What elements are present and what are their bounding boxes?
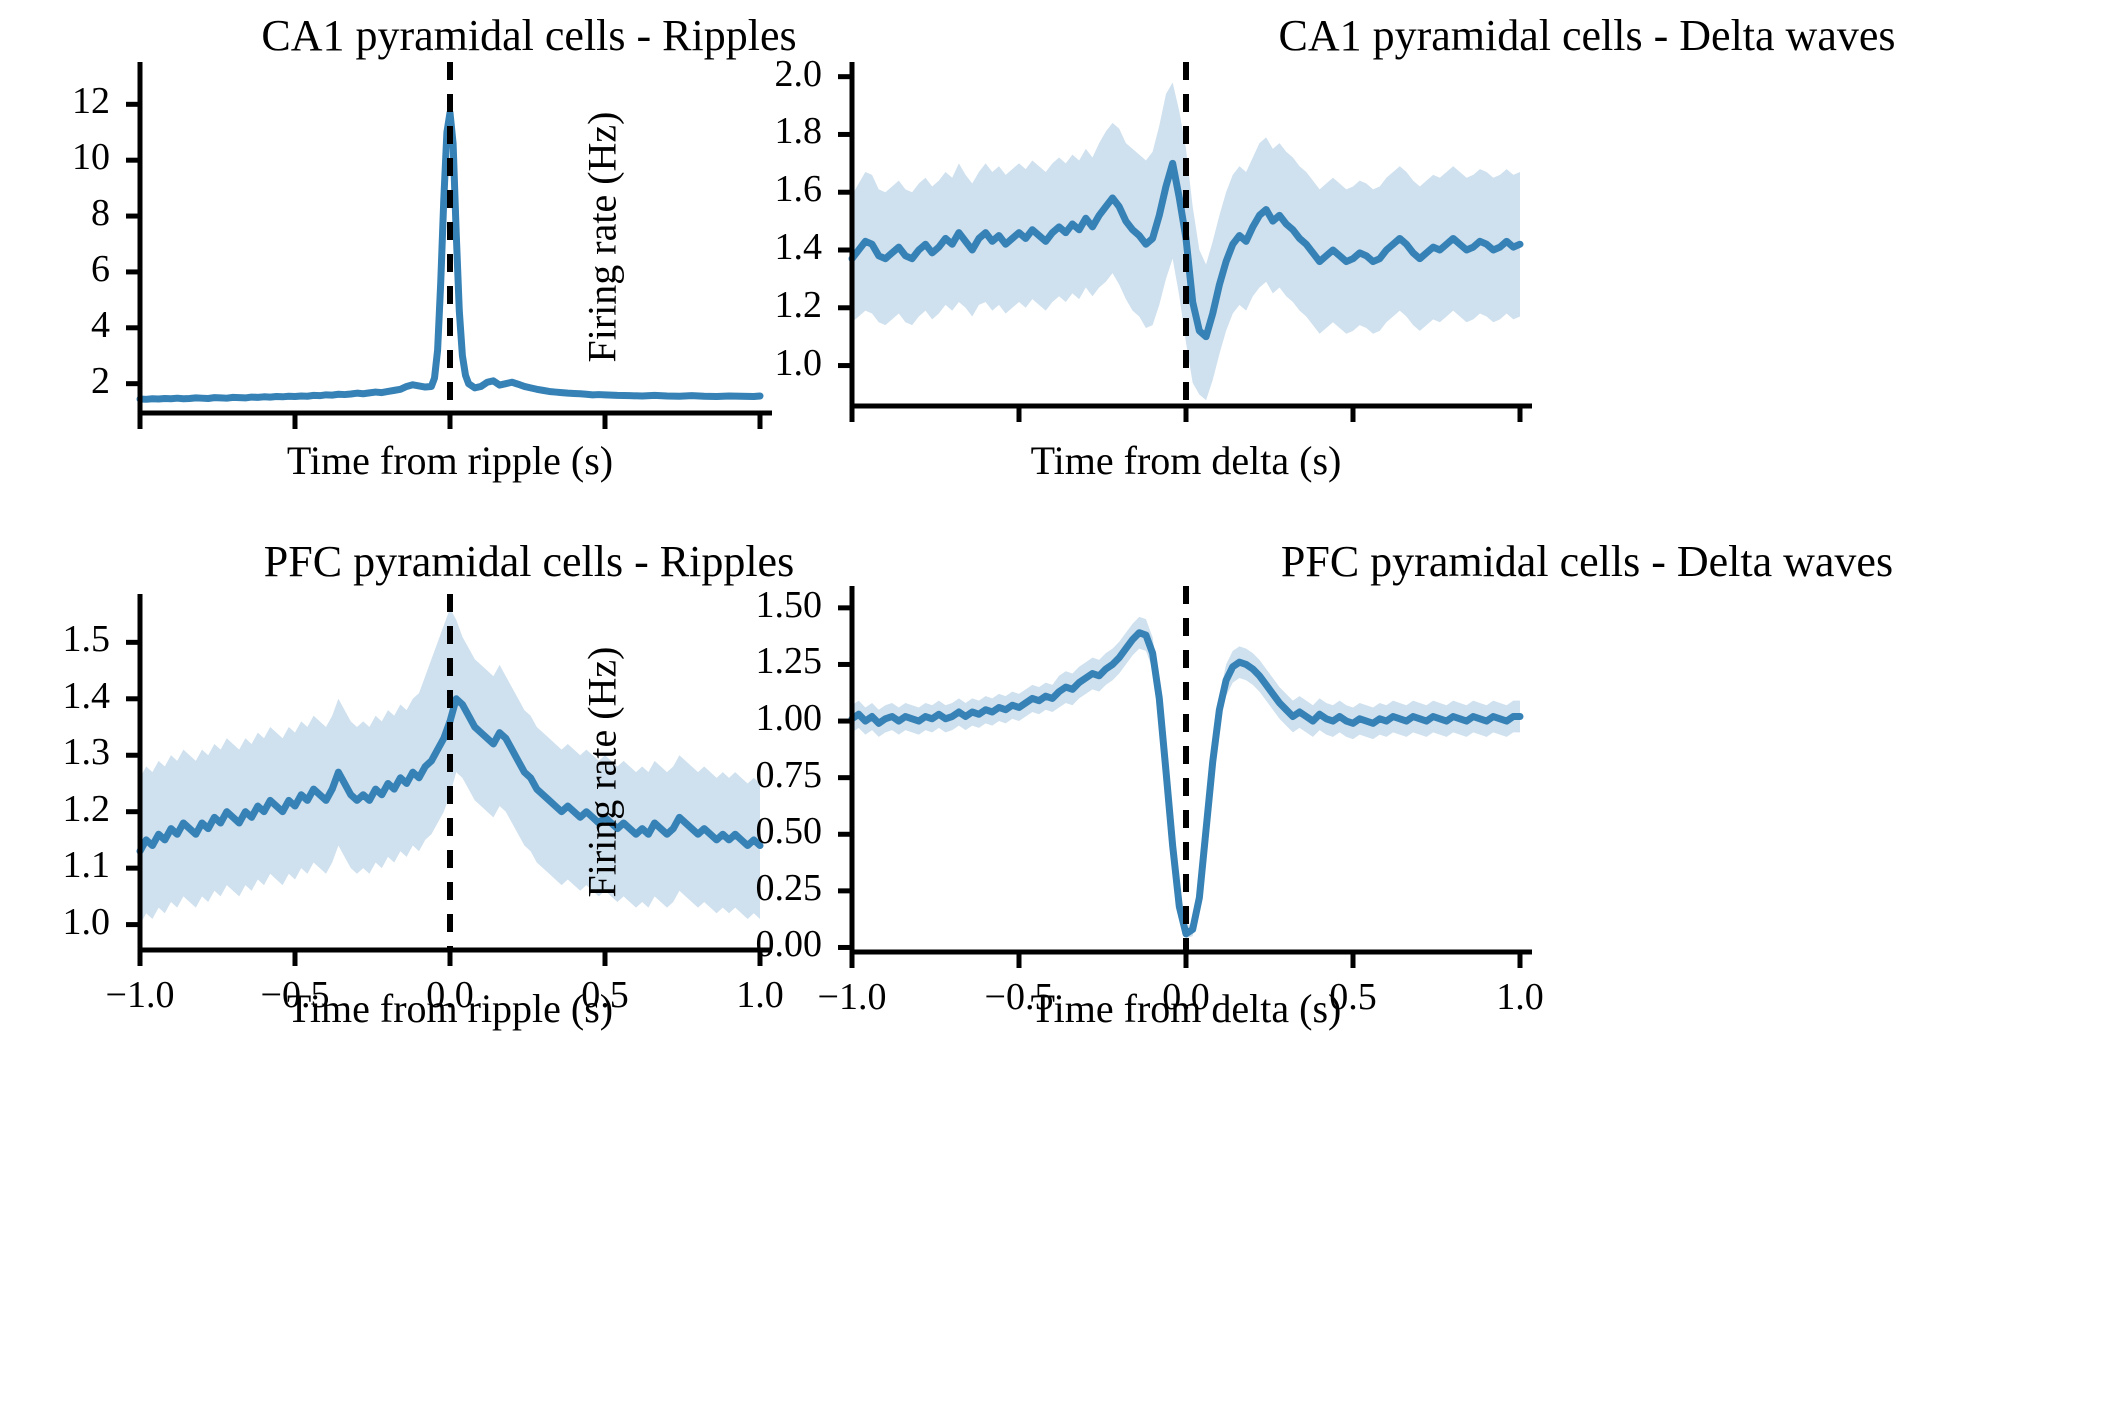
y-tick-label-pfc-delta-4: 1.00 xyxy=(632,699,822,737)
y-tick-label-pfc-delta-3: 0.75 xyxy=(632,756,822,794)
panel-pfc-delta: PFC pyramidal cells - Delta waves0.000.2… xyxy=(0,0,2116,1419)
figure-canvas: CA1 pyramidal cells - Ripples24681012Tim… xyxy=(0,0,2116,1419)
y-tick-label-pfc-delta-1: 0.25 xyxy=(632,869,822,907)
plot-canvas-pfc-delta xyxy=(0,0,2116,1419)
y-tick-label-pfc-delta-6: 1.50 xyxy=(632,586,822,624)
x-axis-label-pfc-delta: Time from delta (s) xyxy=(732,985,1640,1032)
y-tick-label-pfc-delta-0: 0.00 xyxy=(632,925,822,963)
y-tick-label-pfc-delta-5: 1.25 xyxy=(632,642,822,680)
y-tick-label-pfc-delta-2: 0.50 xyxy=(632,812,822,850)
y-axis-label-pfc-delta: Firing rate (Hz) xyxy=(579,646,626,897)
